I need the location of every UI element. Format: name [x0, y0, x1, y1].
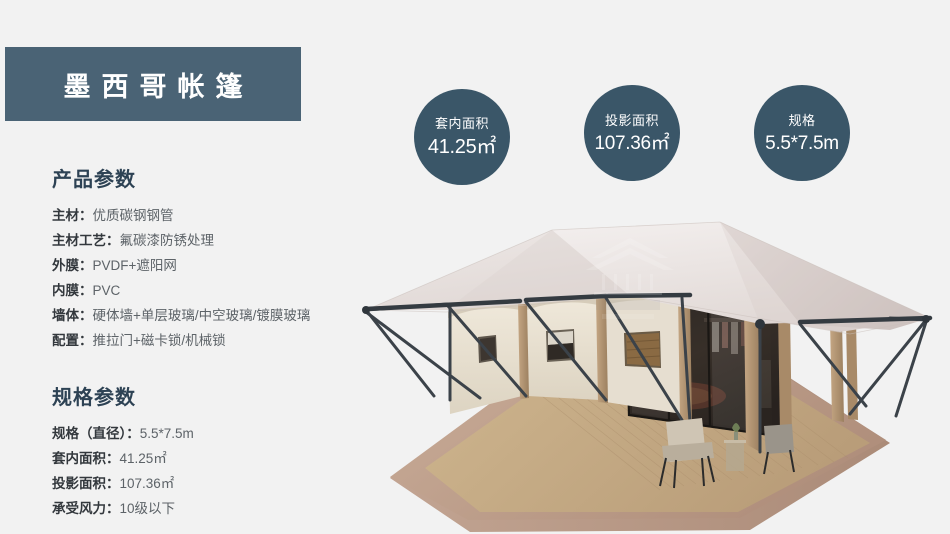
param-row: 墙体：硬体墙+单层玻璃/中空玻璃/镀膜玻璃 [52, 303, 352, 328]
param-row: 外膜：PVDF+遮阳网 [52, 253, 352, 278]
tent-illustration [330, 200, 950, 534]
stat-circle-dimensions: 规格 5.5*7.5m [754, 85, 850, 181]
param-value: PVDF+遮阳网 [93, 258, 177, 273]
param-row: 配置：推拉门+磁卡锁/机械锁 [52, 328, 352, 353]
param-row: 主材：优质碳钢钢管 [52, 203, 352, 228]
spec-key: 投影面积： [52, 476, 120, 491]
param-value: 氟碳漆防锈处理 [120, 233, 215, 248]
tent-wall-panels [448, 294, 682, 414]
param-value: 优质碳钢钢管 [93, 208, 174, 223]
product-params-heading: 产品参数 [52, 163, 352, 192]
spec-value: 41.25㎡ [120, 451, 167, 466]
spec-key: 承受风力： [52, 501, 120, 516]
spec-row: 套内面积：41.25㎡ [52, 446, 352, 471]
param-row: 内膜：PVC [52, 278, 352, 303]
spec-row: 投影面积：107.36㎡ [52, 471, 352, 496]
tent-render-image [330, 200, 950, 534]
stat-circle-value: 5.5*7.5m [765, 134, 839, 153]
spec-key: 规格（直径）： [52, 426, 140, 441]
spec-value: 107.36㎡ [120, 476, 175, 491]
page-title: 墨西哥帐篷 [53, 65, 254, 104]
spec-params-heading: 规格参数 [52, 381, 352, 410]
stat-circle-value: 41.25㎡ [428, 137, 496, 157]
spec-value: 10级以下 [120, 501, 176, 516]
param-key: 外膜： [52, 258, 93, 273]
stat-circle-value: 107.36㎡ [594, 134, 669, 153]
stat-circle-projected-area: 投影面积 107.36㎡ [584, 85, 680, 181]
param-key: 主材： [52, 208, 93, 223]
stat-circle-label: 套内面积 [435, 117, 489, 130]
param-value: 推拉门+磁卡锁/机械锁 [93, 333, 226, 348]
stat-circle-interior-area: 套内面积 41.25㎡ [414, 89, 510, 185]
param-row: 主材工艺：氟碳漆防锈处理 [52, 228, 352, 253]
specification-column: 产品参数 主材：优质碳钢钢管 主材工艺：氟碳漆防锈处理 外膜：PVDF+遮阳网 … [52, 163, 352, 521]
param-value: 硬体墙+单层玻璃/中空玻璃/镀膜玻璃 [93, 308, 311, 323]
stat-circle-label: 投影面积 [605, 114, 659, 127]
param-value: PVC [93, 283, 121, 298]
title-banner: 墨西哥帐篷 [5, 47, 301, 121]
param-key: 主材工艺： [52, 233, 120, 248]
param-key: 配置： [52, 333, 93, 348]
slide-canvas: 墨西哥帐篷 产品参数 主材：优质碳钢钢管 主材工艺：氟碳漆防锈处理 外膜：PVD… [0, 0, 950, 534]
spec-value: 5.5*7.5m [140, 426, 194, 441]
stat-circle-label: 规格 [788, 114, 815, 127]
spec-row: 承受风力：10级以下 [52, 496, 352, 521]
param-key: 内膜： [52, 283, 93, 298]
spec-key: 套内面积： [52, 451, 120, 466]
spec-row: 规格（直径）：5.5*7.5m [52, 421, 352, 446]
param-key: 墙体： [52, 308, 93, 323]
